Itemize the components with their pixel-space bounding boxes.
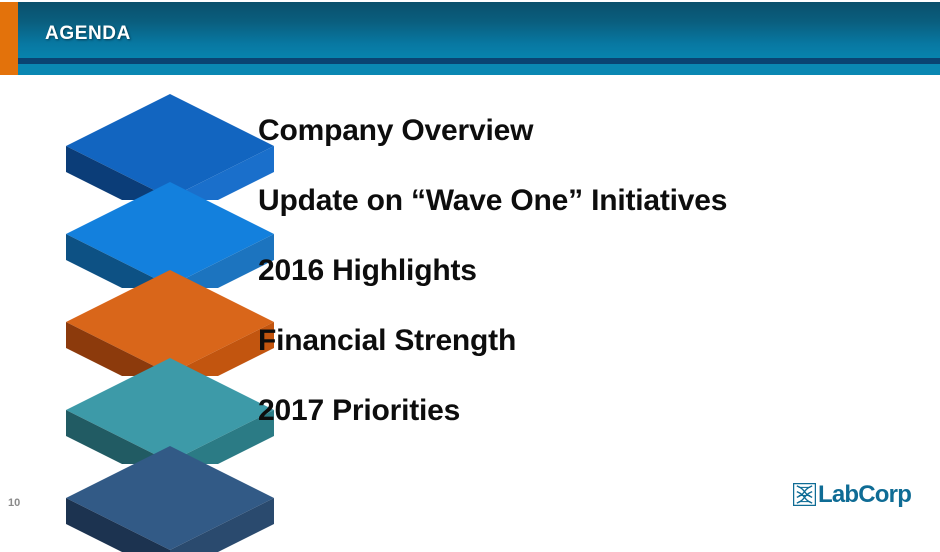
agenda-item-financial-strength: Financial Strength <box>258 306 918 376</box>
agenda-item-wave-one: Update on “Wave One” Initiatives <box>258 166 918 236</box>
isometric-slab-stack <box>60 88 290 488</box>
labcorp-logo: LabCorp <box>793 482 923 510</box>
agenda-item-2017-priorities: 2017 Priorities <box>258 376 918 446</box>
slide-canvas: AGENDA <box>0 0 940 528</box>
agenda-list: Company Overview Update on “Wave One” In… <box>258 96 918 446</box>
header-banner <box>0 2 940 58</box>
page-number: 10 <box>8 497 20 509</box>
slab-2017-priorities <box>60 440 280 552</box>
dna-helix-icon <box>793 483 816 507</box>
page-title: AGENDA <box>45 23 131 45</box>
header-rule-light <box>0 64 940 75</box>
labcorp-wordmark: LabCorp <box>818 482 911 508</box>
agenda-item-company-overview: Company Overview <box>258 96 918 166</box>
header-accent-bar <box>0 2 18 75</box>
agenda-item-2016-highlights: 2016 Highlights <box>258 236 918 306</box>
